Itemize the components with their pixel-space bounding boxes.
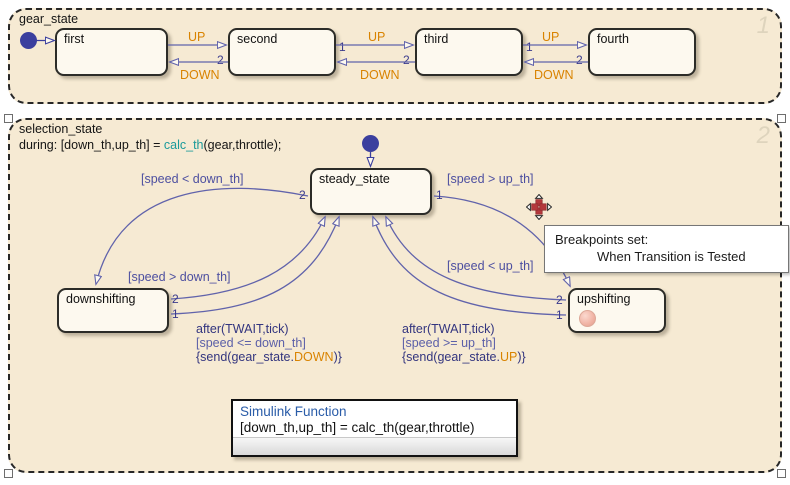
state-downshifting[interactable]: downshifting [57, 288, 169, 333]
state-upshifting[interactable]: upshifting [568, 288, 666, 333]
transition-order-downshifting-bottom: 1 [172, 307, 179, 321]
state-steady-state[interactable]: steady_state [310, 168, 432, 215]
downshift-action-line3-open: {send(gear_state. [196, 350, 294, 364]
breakpoint-marker-icon[interactable] [526, 194, 552, 220]
state-first[interactable]: first [55, 28, 168, 76]
state-third-label: third [424, 32, 448, 46]
tooltip-line-1: Breakpoints set: [555, 232, 648, 247]
state-steady-state-label: steady_state [319, 172, 390, 186]
breakpoint-tooltip: Breakpoints set: When Transition is Test… [544, 225, 789, 273]
transition-order-fourth-down: 2 [576, 53, 583, 67]
resize-handle-top-right[interactable] [777, 114, 786, 123]
transition-order-second-up: 1 [339, 40, 346, 54]
superstate-selection-state-during: during: [down_th,up_th] = calc_th(gear,t… [19, 138, 281, 152]
transition-label-speed-lt-up-th: [speed < up_th] [447, 259, 534, 273]
transition-order-steady-left: 2 [299, 188, 306, 202]
resize-handle-top-left[interactable] [4, 114, 13, 123]
transition-label-speed-lt-down-th: [speed < down_th] [141, 172, 244, 186]
simulink-function-title: Simulink Function [233, 401, 516, 419]
upshift-action-line3-close: )} [517, 350, 525, 364]
state-downshifting-label: downshifting [66, 292, 136, 306]
downshift-action-line1: after(TWAIT,tick) [196, 322, 289, 336]
superstate-selection-state-label: selection_state [19, 122, 102, 136]
transition-order-upshifting-top: 2 [556, 293, 563, 307]
state-fourth-label: fourth [597, 32, 629, 46]
default-transition-junction-icon-selection [362, 135, 379, 152]
superstate-gear-state-label: gear_state [19, 12, 78, 26]
stateflow-canvas[interactable]: gear_state 1 first second third fourth U… [0, 0, 790, 485]
transition-label-up-2: UP [368, 30, 385, 44]
during-function-link[interactable]: calc_th [164, 138, 204, 152]
state-second-label: second [237, 32, 277, 46]
downshift-action-event: DOWN [294, 350, 334, 364]
state-upshifting-label: upshifting [577, 292, 631, 306]
transition-label-up-3: UP [542, 30, 559, 44]
superstate-gear-state-number: 1 [757, 14, 770, 38]
superstate-selection-state-number: 2 [757, 124, 770, 148]
state-third[interactable]: third [415, 28, 523, 76]
transition-order-upshifting-bottom: 1 [556, 308, 563, 322]
transition-order-downshifting-top: 2 [172, 292, 179, 306]
state-fourth[interactable]: fourth [588, 28, 696, 76]
upshift-action-line1: after(TWAIT,tick) [402, 322, 495, 336]
during-suffix: (gear,throttle); [204, 138, 282, 152]
default-transition-junction-icon-gear [20, 32, 37, 49]
active-state-indicator-icon [579, 310, 596, 327]
transition-label-up-1: UP [188, 30, 205, 44]
downshift-action-line3-close: )} [334, 350, 342, 364]
transition-label-down-2: DOWN [360, 68, 400, 82]
transition-order-third-down: 2 [403, 53, 410, 67]
simulink-function-block[interactable]: Simulink Function [down_th,up_th] = calc… [231, 399, 518, 457]
during-prefix: during: [down_th,up_th] = [19, 138, 164, 152]
transition-label-speed-gt-down-th: [speed > down_th] [128, 270, 231, 284]
state-second[interactable]: second [228, 28, 336, 76]
transition-label-down-3: DOWN [534, 68, 574, 82]
upshift-action-event: UP [500, 350, 517, 364]
transition-action-upshift: after(TWAIT,tick) [speed >= up_th] {send… [402, 322, 526, 364]
downshift-action-line2: [speed <= down_th] [196, 336, 306, 350]
transition-label-down-1: DOWN [180, 68, 220, 82]
transition-order-third-up: 1 [526, 40, 533, 54]
transition-action-downshift: after(TWAIT,tick) [speed <= down_th] {se… [196, 322, 342, 364]
state-first-label: first [64, 32, 84, 46]
tooltip-line-2: When Transition is Tested [555, 248, 778, 265]
transition-order-steady-right: 1 [436, 188, 443, 202]
upshift-action-line3-open: {send(gear_state. [402, 350, 500, 364]
simulink-function-footer [233, 437, 516, 455]
simulink-function-signature: [down_th,up_th] = calc_th(gear,throttle) [233, 419, 516, 438]
transition-label-speed-gt-up-th: [speed > up_th] [447, 172, 534, 186]
transition-order-second-down: 2 [217, 53, 224, 67]
resize-handle-bottom-left[interactable] [4, 469, 13, 478]
upshift-action-line2: [speed >= up_th] [402, 336, 496, 350]
resize-handle-bottom-right[interactable] [777, 469, 786, 478]
